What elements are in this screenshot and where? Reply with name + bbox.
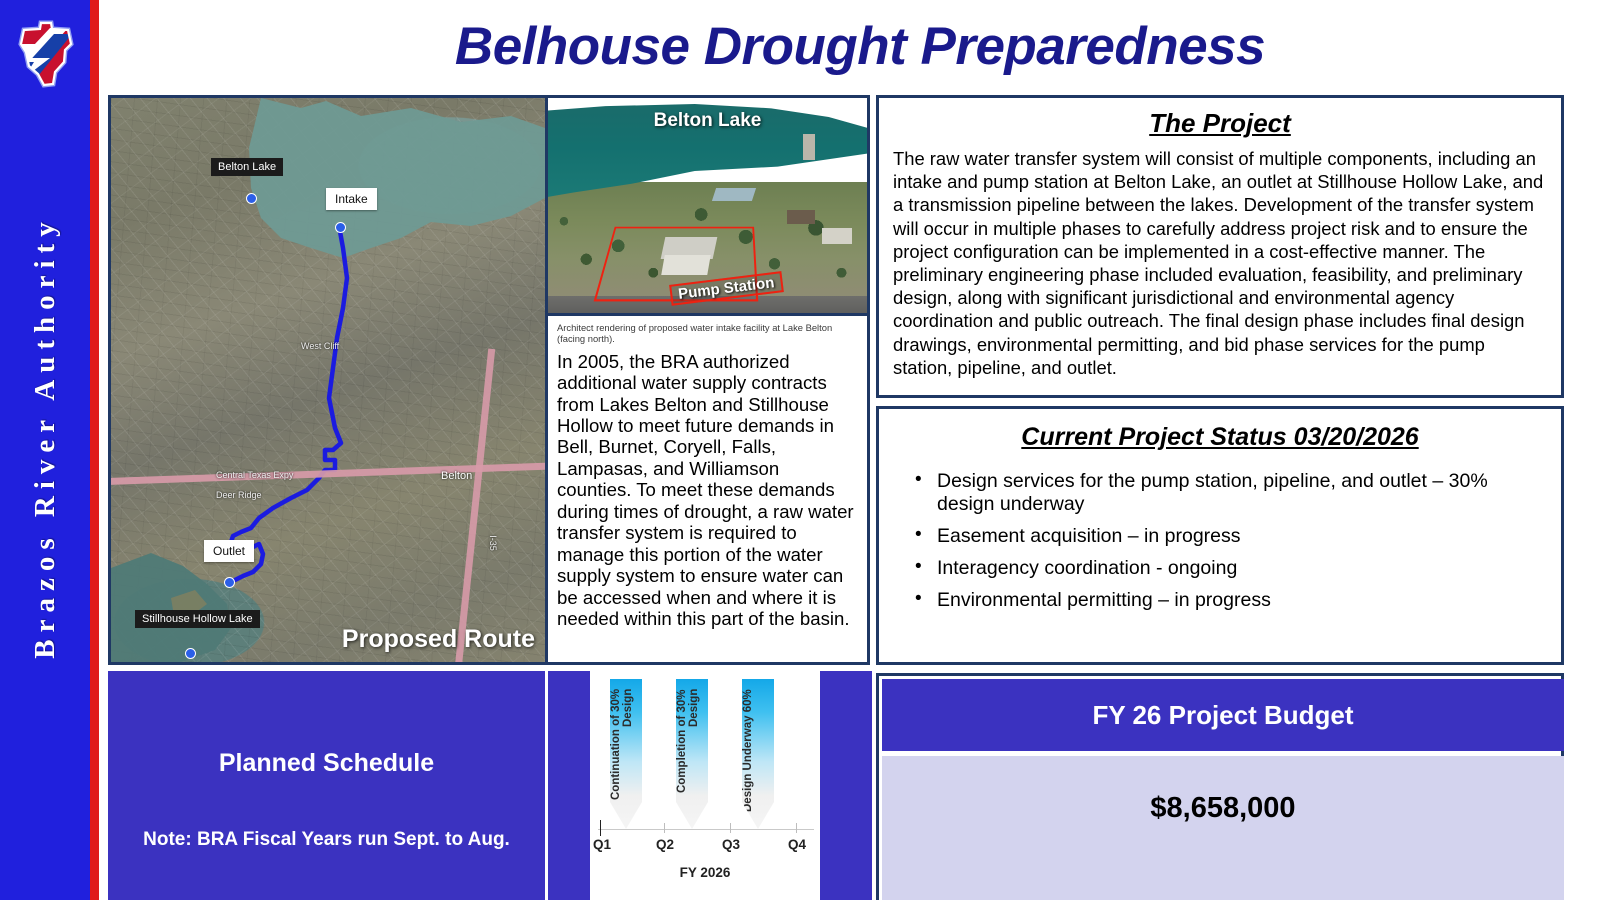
map-label-i35: I-35 (488, 535, 498, 551)
milestone-arrow-q3: 60% Design Underway (742, 679, 774, 829)
chart-tick-q2 (664, 823, 665, 833)
chart-xtick-label-q1: Q1 (593, 837, 611, 852)
fy26-budget-header: FY 26 Project Budget (882, 679, 1564, 751)
fy26-budget-body: $8,658,000 (882, 756, 1564, 900)
map-overlay-title: Proposed Route (342, 625, 535, 654)
brand-rail-label: Brazos River Authority (0, 97, 90, 777)
map-label-deer-ridge: Deer Ridge (216, 490, 262, 500)
aerial-building-pad (661, 255, 711, 275)
list-item: Environmental permitting – in progress (915, 589, 1547, 612)
the-project-panel: The Project The raw water transfer syste… (876, 95, 1564, 398)
chart-tick-q1 (600, 820, 601, 836)
planned-schedule-title: Planned Schedule (108, 749, 545, 778)
milestone-label-q3: 60% Design Underway (742, 679, 754, 829)
planned-schedule-note: Note: BRA Fiscal Years run Sept. to Aug. (108, 829, 545, 851)
milestone-label-q1: Continuation of 30% Design (610, 679, 634, 829)
slide-root: Brazos River Authority Belhouse Drought … (0, 0, 1600, 900)
map-dot-intake (335, 222, 346, 233)
aerial-label-belton-lake: Belton Lake (548, 110, 867, 132)
fy26-budget-amount: $8,658,000 (1150, 792, 1295, 825)
current-project-status-panel: Current Project Status 03/20/2026 Design… (876, 406, 1564, 665)
map-dot-belton-lake (246, 193, 257, 204)
current-project-status-heading: Current Project Status 03/20/2026 (893, 423, 1547, 452)
the-project-heading: The Project (893, 108, 1547, 139)
aerial-building-boathouse (712, 188, 756, 201)
page-title: Belhouse Drought Preparedness (300, 16, 1420, 86)
brand-rail-red-stripe (90, 0, 99, 900)
planned-schedule-panel: Planned Schedule Note: BRA Fiscal Years … (108, 671, 545, 900)
proposed-route-map[interactable]: Belton Lake Intake Outlet Stillhouse Hol… (108, 95, 548, 665)
list-item: Easement acquisition – in progress (915, 525, 1547, 548)
aerial-photo-pump-station[interactable]: Belton Lake Pump Station (545, 95, 870, 325)
background-text-panel: Architect rendering of proposed water in… (545, 313, 870, 665)
background-paragraph: In 2005, the BRA authorized additional w… (557, 351, 858, 630)
list-item: Design services for the pump station, pi… (915, 470, 1547, 516)
aerial-photo-caption: Architect rendering of proposed water in… (557, 322, 858, 345)
status-bullet-list: Design services for the pump station, pi… (893, 470, 1547, 612)
map-dot-stillhouse (185, 648, 196, 659)
map-label-belton-city: Belton (441, 470, 472, 482)
map-label-intake: Intake (326, 188, 377, 210)
chart-xtick-label-q3: Q3 (722, 837, 740, 852)
map-label-belton-lake: Belton Lake (211, 158, 283, 176)
chart-xtick-label-q4: Q4 (788, 837, 806, 852)
chart-xtick-label-q2: Q2 (656, 837, 674, 852)
milestone-arrow-q2: Completion of 30% Design (676, 679, 708, 829)
chart-x-axis (598, 829, 814, 830)
map-water-and-pipeline (111, 98, 545, 662)
schedule-spacer-left (548, 671, 590, 900)
map-label-outlet: Outlet (204, 540, 254, 562)
list-item: Interagency coordination - ongoing (915, 557, 1547, 580)
aerial-building-shelter (787, 210, 815, 224)
chart-tick-q4 (796, 823, 797, 833)
the-project-body: The raw water transfer system will consi… (893, 147, 1547, 379)
fy26-project-budget-panel: FY 26 Project Budget $8,658,000 (876, 673, 1564, 900)
map-label-west-cliff: West Cliff (301, 341, 339, 351)
map-label-central-texas-expy: Central Texas Expy (216, 470, 293, 480)
chart-x-axis-label: FY 2026 (590, 865, 820, 880)
milestone-arrow-q1: Continuation of 30% Design (610, 679, 642, 829)
map-dot-outlet (224, 577, 235, 588)
map-label-stillhouse-hollow-lake: Stillhouse Hollow Lake (135, 610, 260, 628)
fy2026-milestone-timeline-chart[interactable]: Continuation of 30% Design Completion of… (590, 671, 820, 900)
brand-rail-white-stripe (99, 0, 106, 900)
schedule-spacer-right (820, 671, 872, 900)
milestone-label-q2: Completion of 30% Design (676, 679, 700, 829)
chart-tick-q3 (730, 823, 731, 833)
aerial-building-office (822, 228, 852, 244)
texas-state-logo (10, 14, 80, 92)
